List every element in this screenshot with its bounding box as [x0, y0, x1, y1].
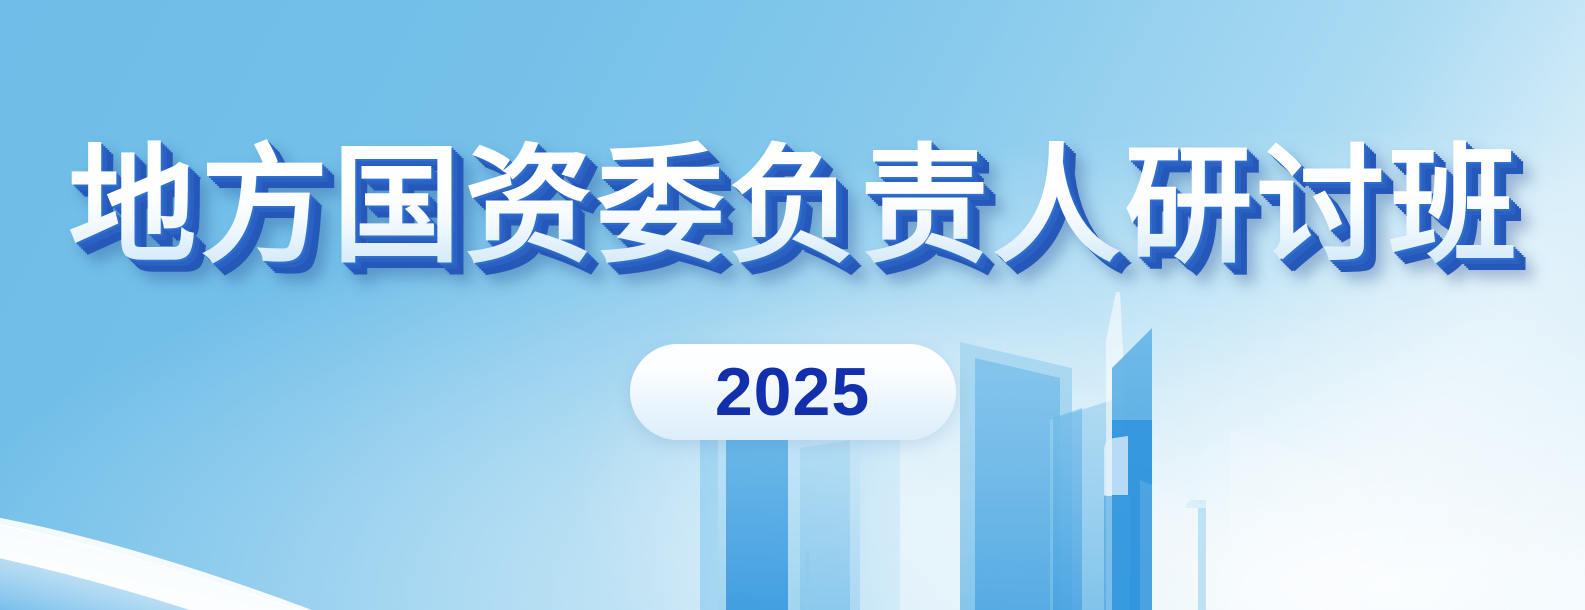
title-char: 国 — [332, 138, 460, 276]
corner-ribbon-swoosh-icon — [0, 310, 460, 610]
title-char: 地 — [68, 138, 196, 276]
title-char: 研 — [1125, 138, 1253, 276]
title-char: 班 — [1389, 138, 1517, 276]
title-char: 人 — [993, 138, 1121, 276]
year-badge: 2025 — [630, 344, 956, 440]
page-title: 地方国资委负责人研讨班 — [0, 138, 1585, 276]
title-char: 负 — [728, 138, 856, 276]
background-decor-layer — [0, 0, 1585, 610]
year-badge-label: 2025 — [715, 358, 870, 426]
title-char: 责 — [861, 138, 989, 276]
title-char: 讨 — [1257, 138, 1385, 276]
title-char: 委 — [596, 138, 724, 276]
title-char: 资 — [464, 138, 592, 276]
diagonal-light-streak-icon — [1069, 0, 1585, 610]
title-char: 方 — [200, 138, 328, 276]
banner-root: 地方国资委负责人研讨班 2025 — [0, 0, 1585, 610]
